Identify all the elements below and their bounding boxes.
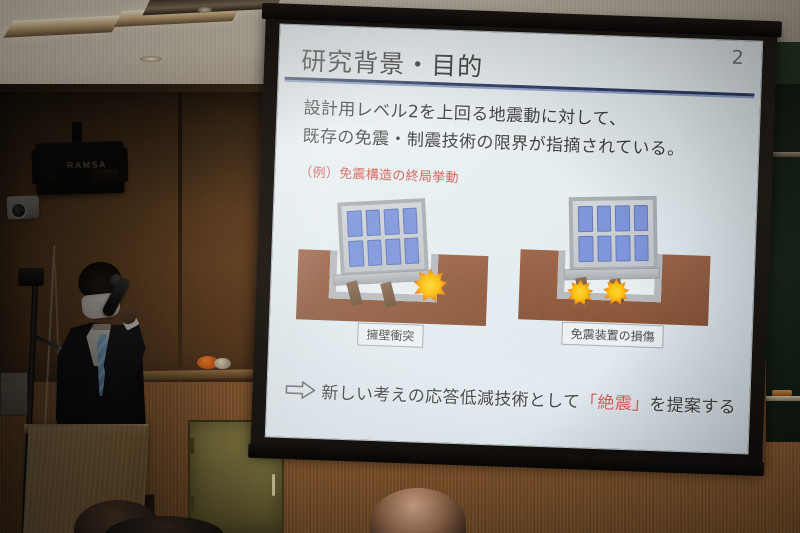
cabinet-hinge xyxy=(189,496,194,512)
cabinet-hinge xyxy=(189,438,194,454)
slide-example-note: （例）免震構造の終局挙動 xyxy=(299,161,459,186)
slide-body-line: 既存の免震・制震技術の限界が指摘されている。 xyxy=(302,121,685,160)
building-window xyxy=(596,206,611,232)
cabinet-handle[interactable] xyxy=(272,474,275,496)
speaker-mount-wing xyxy=(32,150,41,184)
conclusion-highlight: 「絶震」 xyxy=(580,392,650,414)
figure-caption: 擁壁衝突 xyxy=(357,322,424,347)
chalk-rail xyxy=(766,396,800,401)
block-arrow-right-icon xyxy=(285,380,316,400)
building-window xyxy=(384,208,400,235)
slide-conclusion: 新しい考えの応答低減技術として「絶震」を提案する xyxy=(285,377,736,418)
building-window xyxy=(615,205,630,231)
building-superstructure xyxy=(569,196,658,271)
conclusion-prefix: 新しい考えの応答低減技術として xyxy=(321,383,581,412)
speaker-brand-label: RAMSA xyxy=(67,159,107,170)
building-window xyxy=(597,236,612,262)
building-superstructure xyxy=(337,198,429,276)
building-window xyxy=(404,238,420,265)
conclusion-text: 新しい考えの応答低減技術として「絶震」を提案する xyxy=(321,378,736,418)
building-window xyxy=(615,235,630,261)
speaker-port xyxy=(92,169,118,185)
ceiling-downlight-icon xyxy=(198,7,212,13)
building-window xyxy=(578,206,593,232)
wall-panel-edge xyxy=(178,92,182,382)
wall-plate xyxy=(0,372,28,416)
tape-roll xyxy=(214,358,231,369)
speaker-mount-wing xyxy=(119,148,128,182)
building-window xyxy=(634,235,649,261)
speaker-bracket xyxy=(72,122,82,144)
building-window xyxy=(365,209,381,236)
speaker-driver-icon xyxy=(45,173,58,186)
conclusion-suffix: を提案する xyxy=(649,395,736,418)
figure-isolator-damage: 免震装置の損傷 xyxy=(517,189,712,346)
building-window xyxy=(348,240,364,267)
figure-retaining-wall-collision: 擁壁衝突 xyxy=(295,189,490,346)
speaker-driver-icon xyxy=(45,153,62,170)
chalk-eraser xyxy=(772,390,792,396)
building-window xyxy=(347,210,363,237)
figure-caption: 免震装置の損傷 xyxy=(561,322,664,349)
projection-screen: 2 研究背景・目的 設計用レベル2を上回る地震動に対して、 既存の免震・制震技術… xyxy=(250,7,778,471)
camera-lens-icon xyxy=(10,202,27,219)
building-window xyxy=(367,239,383,266)
presentation-slide: 2 研究背景・目的 設計用レベル2を上回る地震動に対して、 既存の免震・制震技術… xyxy=(265,23,763,454)
building-window xyxy=(385,238,401,265)
ceiling-downlight-icon xyxy=(140,56,162,62)
wall-speaker: RAMSA xyxy=(35,141,124,195)
building-window xyxy=(578,236,593,262)
building-window xyxy=(402,208,418,235)
screenshot-root: RAMSA 2 xyxy=(0,0,800,533)
building-window xyxy=(633,205,648,231)
slide-page-number: 2 xyxy=(731,47,744,69)
